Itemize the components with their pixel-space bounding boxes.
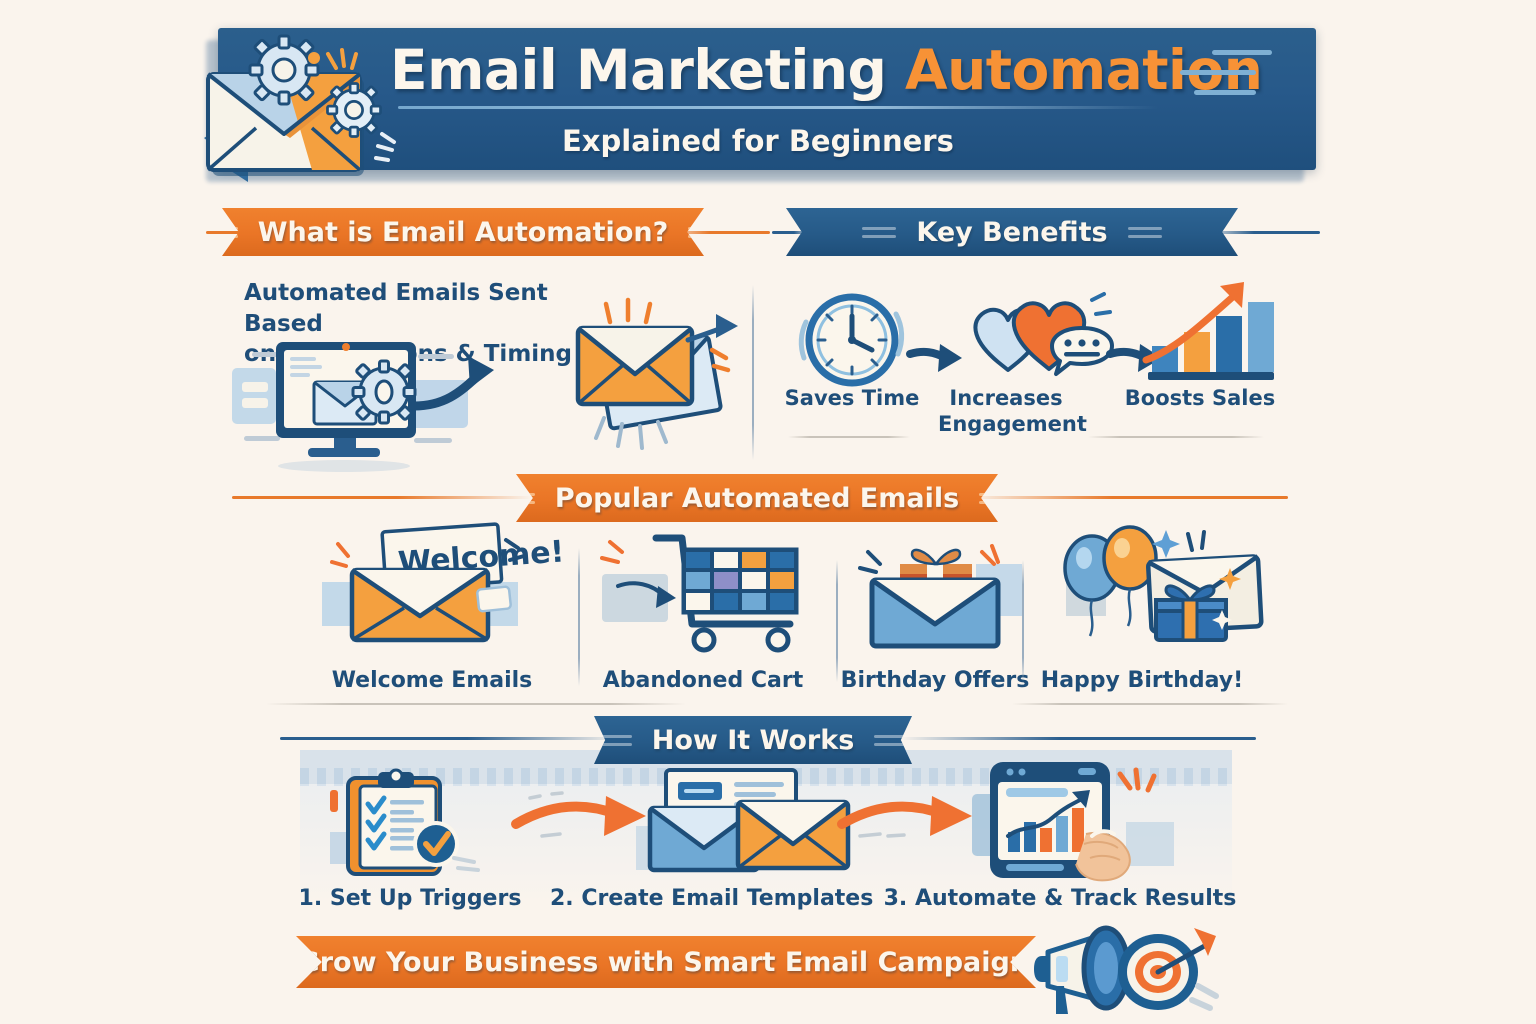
title-main: Email Marketing bbox=[390, 38, 905, 102]
benefit-label-increases-engagement: Increases Engagement bbox=[938, 386, 1074, 437]
envelope-gears-icon bbox=[186, 42, 416, 192]
banner-what-is-email-automation: What is Email Automation? bbox=[222, 208, 704, 256]
benefit-underline-1 bbox=[788, 436, 910, 438]
arrow-right-icon bbox=[908, 342, 964, 376]
popular-label-abandoned-cart: Abandoned Cart bbox=[588, 668, 818, 693]
banner-how-it-works: How It Works bbox=[594, 716, 912, 764]
popular-divider-3 bbox=[1022, 560, 1024, 682]
infographic-canvas: Email Marketing Automation Explained for… bbox=[0, 0, 1536, 1024]
popular-underline-right bbox=[1012, 703, 1288, 705]
popular-line-left bbox=[232, 496, 532, 499]
clock-icon bbox=[796, 284, 906, 394]
ribbon-ticks-left bbox=[856, 227, 902, 238]
banner-key-benefits: Key Benefits bbox=[786, 208, 1238, 256]
banner-popular-label: Popular Automated Emails bbox=[541, 483, 973, 514]
banner-key-benefits-label: Key Benefits bbox=[902, 217, 1121, 248]
how-it-works-line-right bbox=[900, 737, 1256, 740]
what-is-description-line-1: Automated Emails Sent Based bbox=[244, 278, 574, 339]
ribbon-ticks-left bbox=[238, 957, 284, 968]
popular-underline-left bbox=[266, 703, 686, 705]
how-it-works-line-left bbox=[280, 737, 620, 740]
popular-label-happy-birthday: Happy Birthday! bbox=[1032, 668, 1252, 693]
monitor-email-gear-icon bbox=[232, 340, 532, 470]
popular-line-right bbox=[968, 496, 1288, 499]
target-arrow-icon bbox=[1118, 928, 1216, 1010]
section-divider-vertical bbox=[752, 285, 754, 460]
benefit-label-line-1: Increases bbox=[938, 386, 1074, 412]
welcome-envelope-icon: Welcome! bbox=[322, 530, 542, 652]
ribbon-ticks-right bbox=[1122, 227, 1168, 238]
sent-envelope-icon bbox=[560, 300, 750, 460]
bar-chart-growth-icon bbox=[1140, 278, 1280, 388]
banner-what-is-label: What is Email Automation? bbox=[244, 217, 682, 248]
gift-envelope-icon bbox=[858, 538, 1038, 656]
header-dash-marks bbox=[1180, 44, 1310, 104]
arrow-orange-icon bbox=[512, 792, 652, 842]
page-subtitle: Explained for Beginners bbox=[562, 124, 954, 158]
popular-label-birthday-offers: Birthday Offers bbox=[826, 668, 1044, 693]
arrow-orange-icon bbox=[838, 792, 978, 842]
phone-analytics-icon bbox=[968, 760, 1178, 888]
popular-divider-2 bbox=[836, 560, 838, 682]
balloons-gift-icon bbox=[1044, 524, 1244, 660]
banner-popular-automated-emails: Popular Automated Emails bbox=[516, 474, 998, 522]
popular-label-welcome-emails: Welcome Emails bbox=[302, 668, 562, 693]
megaphone-icon bbox=[1030, 912, 1240, 1020]
clipboard-checklist-icon bbox=[324, 772, 504, 882]
step-label-automate-track-results: 3. Automate & Track Results bbox=[880, 886, 1240, 911]
banner-cta-grow-business: Grow Your Business with Smart Email Camp… bbox=[296, 936, 1036, 988]
title-underline bbox=[398, 106, 1158, 109]
hearts-chat-icon bbox=[962, 286, 1130, 392]
banner-how-it-works-label: How It Works bbox=[638, 725, 869, 756]
benefit-label-boosts-sales: Boosts Sales bbox=[1120, 386, 1280, 412]
page-title: Email Marketing Automation bbox=[390, 38, 1290, 102]
shopping-cart-icon bbox=[596, 528, 812, 656]
popular-divider-1 bbox=[578, 548, 580, 686]
banner-cta-label: Grow Your Business with Smart Email Camp… bbox=[284, 947, 1072, 978]
benefit-label-saves-time: Saves Time bbox=[776, 386, 928, 412]
benefit-underline-3 bbox=[1088, 436, 1264, 438]
step-label-set-up-triggers: 1. Set Up Triggers bbox=[290, 886, 530, 911]
step-label-create-email-templates: 2. Create Email Templates bbox=[550, 886, 870, 911]
email-template-icon bbox=[632, 768, 852, 884]
benefit-label-line-2: Engagement bbox=[938, 412, 1074, 438]
